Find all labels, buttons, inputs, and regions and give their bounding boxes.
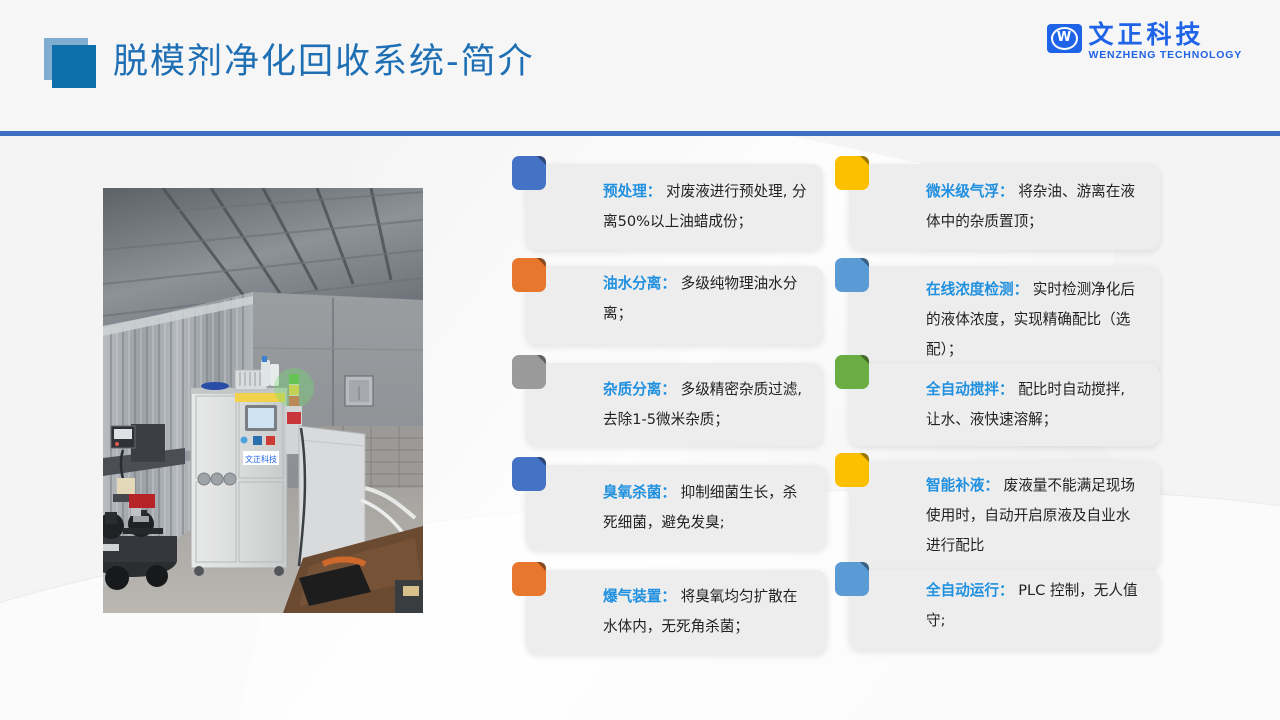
card-text: 微米级气浮： 将杂油、游离在液体中的杂质置顶； (926, 177, 1144, 237)
card-oil-water-separation[interactable]: 油水分离： 多级纯物理油水分离； (526, 266, 823, 345)
card-text: 爆气装置： 将臭氧均匀扩散在水体内，无死角杀菌； (603, 582, 811, 642)
card-ozone-sterilization[interactable]: 臭氧杀菌： 抑制细菌生长，杀死细菌，避免发臭; (526, 465, 827, 550)
card-label: 微米级气浮： (926, 183, 1014, 200)
logo-cn-name: 文正科技 (1089, 22, 1205, 48)
card-smart-liquid-replenishment[interactable]: 智能补液： 废液量不能满足现场使用时，自动开启原液及自业水进行配比 (849, 461, 1160, 570)
card-text: 臭氧杀菌： 抑制细菌生长，杀死细菌，避免发臭; (603, 478, 811, 538)
card-label: 全自动搅拌： (926, 381, 1014, 398)
logo-en-name: WENZHENG TECHNOLOGY (1089, 49, 1242, 61)
card-tab-icon (835, 156, 869, 190)
page-title: 脱模剂净化回收系统-简介 (113, 37, 535, 87)
card-fully-automatic-operation[interactable]: 全自动运行： PLC 控制，无人值守; (849, 570, 1160, 650)
card-text: 全自动运行： PLC 控制，无人值守; (926, 576, 1144, 636)
slide-header: 脱模剂净化回收系统-简介 W 文正科技 WENZHENG TECHNOLOGY (0, 0, 1280, 132)
card-label: 全自动运行： (926, 582, 1014, 599)
card-label: 杂质分离： (603, 381, 676, 398)
card-aeration-device[interactable]: 爆气装置： 将臭氧均匀扩散在水体内，无死角杀菌； (526, 570, 827, 654)
card-label: 爆气装置： (603, 588, 676, 605)
card-text: 预处理： 对废液进行预处理, 分离50%以上油蜡成份； (603, 177, 807, 237)
header-accent-line (0, 131, 1280, 136)
card-text: 油水分离： 多级纯物理油水分离； (603, 269, 807, 329)
card-impurity-separation[interactable]: 杂质分离： 多级精密杂质过滤, 去除1-5微米杂质； (526, 363, 823, 446)
card-text: 智能补液： 废液量不能满足现场使用时，自动开启原液及自业水进行配比 (926, 471, 1144, 561)
card-label: 臭氧杀菌： (603, 484, 676, 501)
card-tab-icon (512, 355, 546, 389)
card-label: 油水分离： (603, 275, 676, 292)
card-label: 预处理： (603, 183, 661, 200)
wenzheng-w-mark-icon: W (1047, 24, 1082, 53)
slide: 脱模剂净化回收系统-简介 W 文正科技 WENZHENG TECHNOLOGY (0, 0, 1280, 720)
company-logo: W 文正科技 WENZHENG TECHNOLOGY (1047, 22, 1242, 61)
card-text: 在线浓度检测： 实时检测净化后的液体浓度，实现精确配比（选配）； (926, 275, 1144, 365)
card-tab-icon (512, 258, 546, 292)
card-tab-icon (512, 562, 546, 596)
card-automatic-stirring[interactable]: 全自动搅拌： 配比时自动搅拌, 让水、液快速溶解； (849, 363, 1160, 446)
card-online-concentration-detection[interactable]: 在线浓度检测： 实时检测净化后的液体浓度，实现精确配比（选配）； (849, 266, 1160, 374)
card-label: 智能补液： (926, 477, 999, 494)
card-tab-icon (512, 457, 546, 491)
card-tab-icon (835, 562, 869, 596)
card-label: 在线浓度检测： (926, 281, 1028, 298)
card-tab-icon (835, 258, 869, 292)
card-micro-flotation[interactable]: 微米级气浮： 将杂油、游离在液体中的杂质置顶； (849, 164, 1160, 250)
card-tab-icon (512, 156, 546, 190)
card-text: 杂质分离： 多级精密杂质过滤, 去除1-5微米杂质； (603, 375, 807, 435)
svg-text:文正科技: 文正科技 (245, 454, 277, 464)
card-tab-icon (835, 355, 869, 389)
card-text: 全自动搅拌： 配比时自动搅拌, 让水、液快速溶解； (926, 375, 1144, 435)
feature-card-grid: 预处理： 对废液进行预处理, 分离50%以上油蜡成份； 油水分离： 多级纯物理油… (520, 155, 1160, 660)
title-marker-icon (44, 38, 96, 88)
card-tab-icon (835, 453, 869, 487)
card-pretreatment[interactable]: 预处理： 对废液进行预处理, 分离50%以上油蜡成份； (526, 164, 823, 250)
equipment-photo: 文正科技 (103, 188, 423, 613)
